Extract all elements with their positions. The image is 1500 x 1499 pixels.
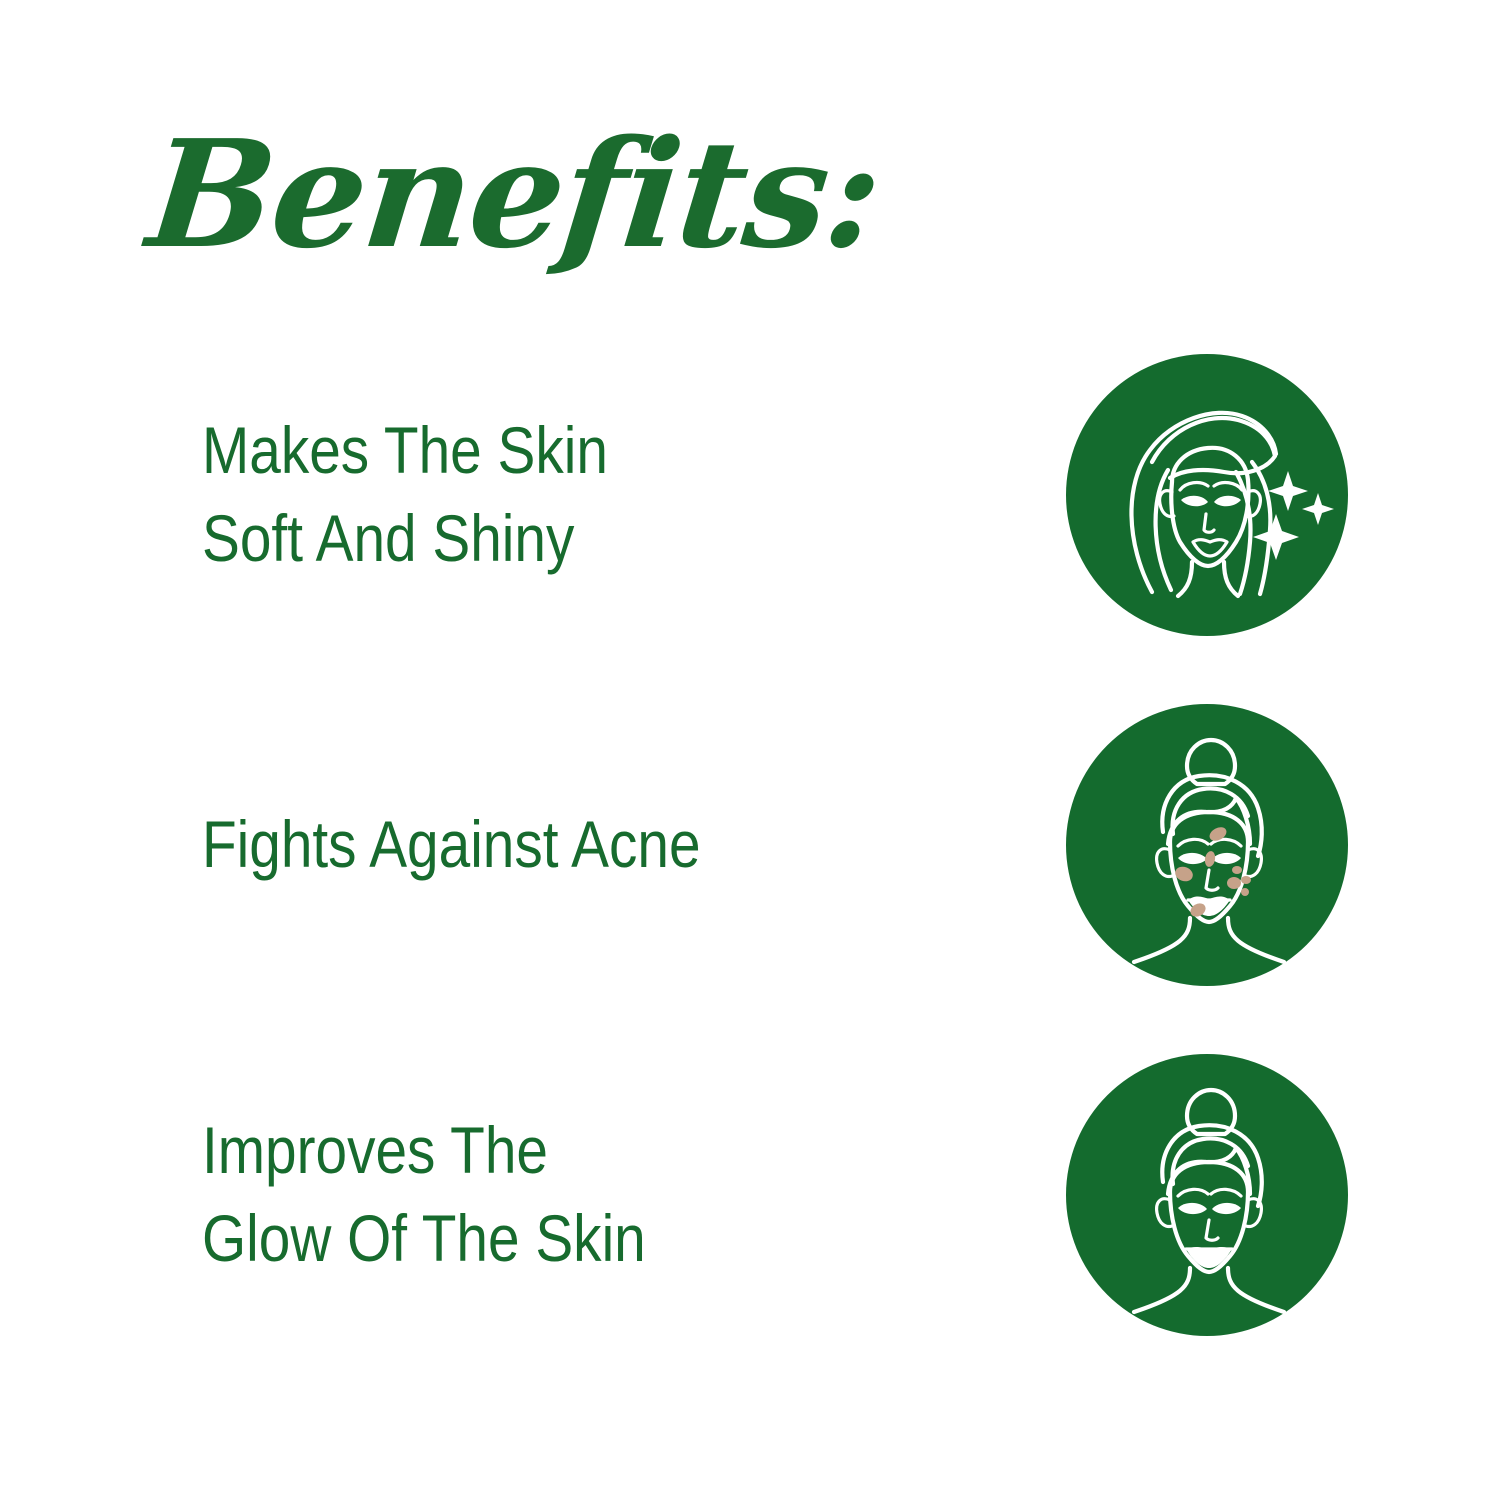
benefit-label-soft-shiny-skin: Makes The Skin Soft And Shiny — [202, 345, 890, 645]
benefit-label-improves-glow: Improves The Glow Of The Skin — [202, 1045, 890, 1345]
benefit-row: Improves The Glow Of The Skin — [0, 1045, 1500, 1345]
woman-acne-spots-icon — [1066, 704, 1348, 986]
woman-glowing-skin-sparkles-icon — [1066, 354, 1348, 636]
benefit-label-fights-acne: Fights Against Acne — [202, 695, 890, 995]
woman-clear-glowing-face-icon — [1066, 1054, 1348, 1336]
page-title: Benefits: — [142, 120, 887, 268]
benefit-row: Fights Against Acne — [0, 695, 1500, 995]
benefits-infographic: Benefits: Makes The Skin Soft And Shiny — [0, 0, 1500, 1499]
benefit-row: Makes The Skin Soft And Shiny — [0, 345, 1500, 645]
